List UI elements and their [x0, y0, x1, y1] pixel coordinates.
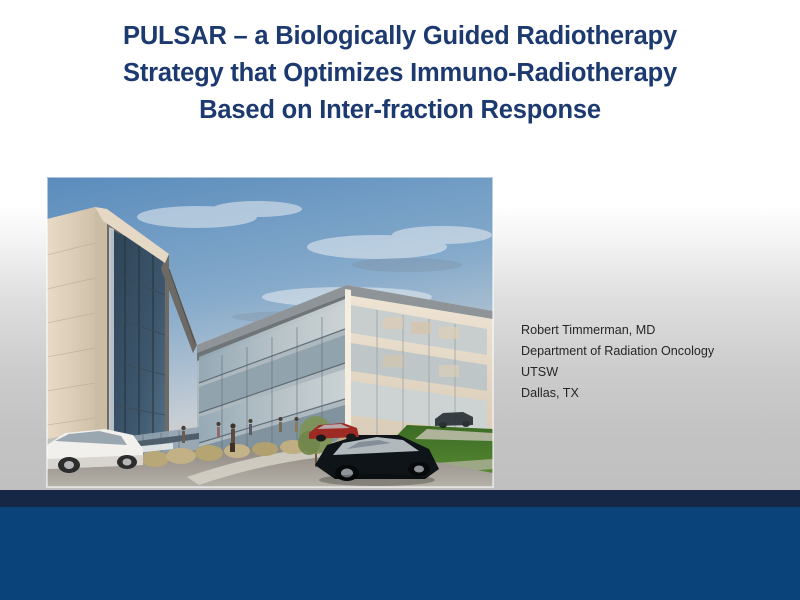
building-photo	[47, 177, 493, 487]
slide-title: PULSAR – a Biologically Guided Radiother…	[0, 18, 800, 129]
author-affiliation-block: Robert Timmerman, MD Department of Radia…	[521, 320, 771, 404]
author-name: Robert Timmerman, MD	[521, 320, 771, 341]
author-department: Department of Radiation Oncology	[521, 341, 771, 362]
title-line-1: PULSAR – a Biologically Guided Radiother…	[0, 18, 800, 55]
footer-band: UTSouthwestern Medical Center	[0, 507, 800, 600]
white-car	[47, 429, 143, 473]
building-photo-illustration	[47, 177, 493, 487]
author-location: Dallas, TX	[521, 383, 771, 404]
author-institution: UTSW	[521, 362, 771, 383]
footer-accent-band	[0, 490, 800, 507]
title-line-2: Strategy that Optimizes Immuno-Radiother…	[0, 55, 800, 92]
presentation-slide: PULSAR – a Biologically Guided Radiother…	[0, 0, 800, 600]
title-line-3: Based on Inter-fraction Response	[0, 92, 800, 129]
